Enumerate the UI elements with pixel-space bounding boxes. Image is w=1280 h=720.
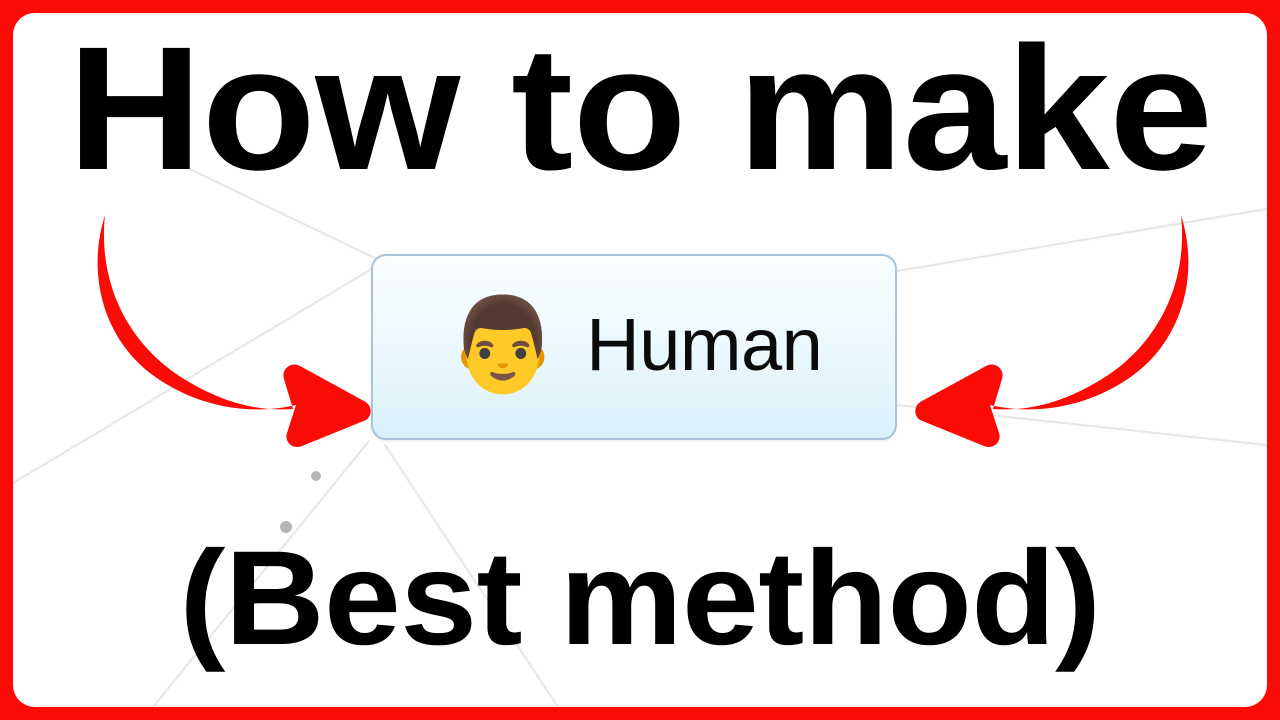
graph-node — [311, 471, 321, 481]
youtube-thumbnail: How to make 👨 Human (Best method) — [0, 0, 1280, 720]
headline-bottom: (Best method) — [13, 532, 1267, 666]
thumbnail-canvas: How to make 👨 Human (Best method) — [13, 13, 1267, 707]
human-element-button[interactable]: 👨 Human — [371, 254, 897, 440]
graph-line — [13, 261, 385, 483]
man-emoji: 👨 — [446, 299, 561, 391]
curved-arrow-left-icon — [908, 203, 1198, 448]
curved-arrow-right-icon — [88, 203, 378, 448]
graph-line — [897, 405, 1267, 445]
graph-line — [897, 209, 1267, 271]
human-element-label: Human — [586, 308, 822, 382]
headline-top: How to make — [13, 21, 1267, 197]
